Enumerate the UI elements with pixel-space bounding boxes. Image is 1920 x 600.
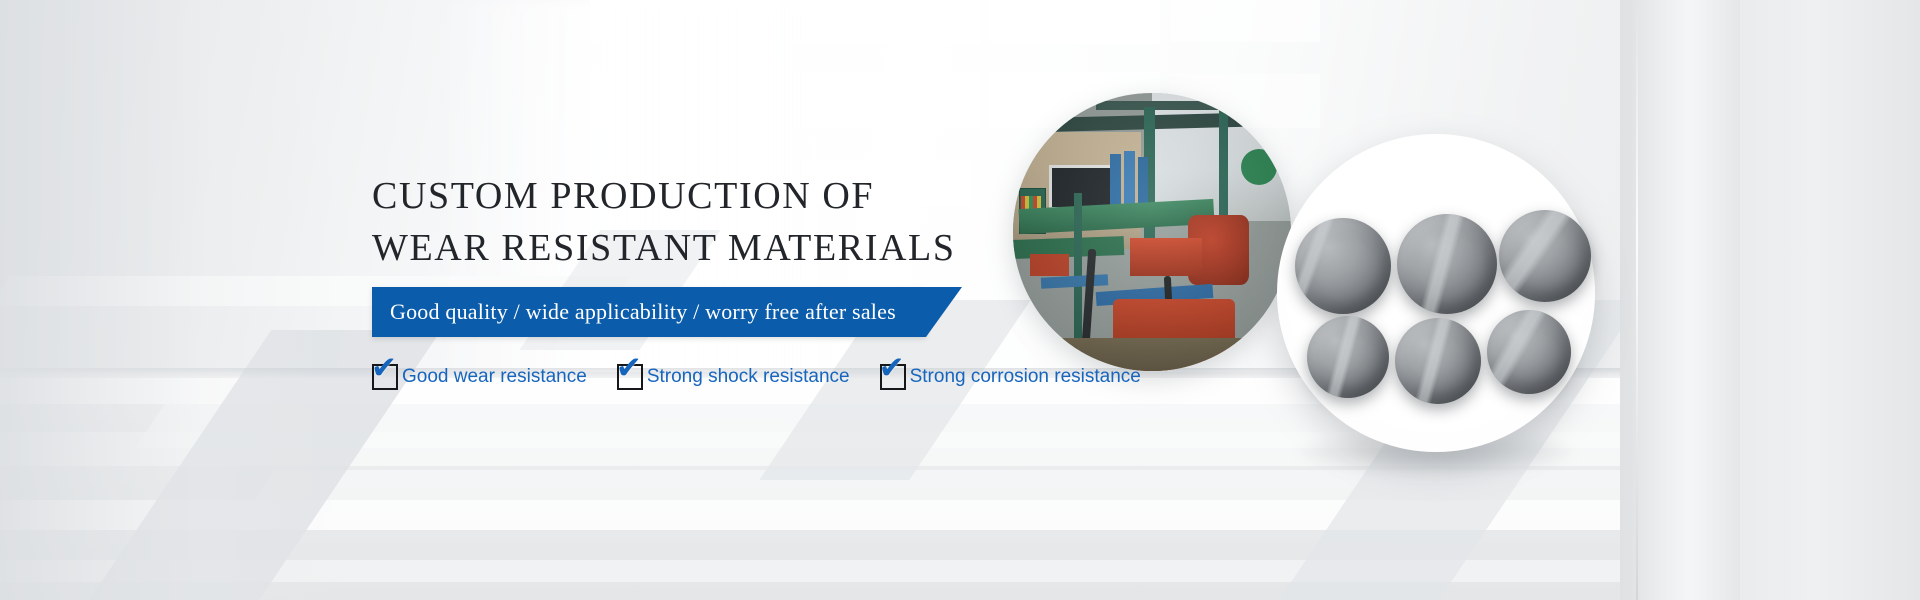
check-mark-icon: ✔ xyxy=(371,353,397,384)
feature-label: Good wear resistance xyxy=(402,366,587,388)
right-wall-fold xyxy=(1630,0,1740,600)
grinding-ball xyxy=(1307,316,1389,398)
ribbon-arrow-tip xyxy=(926,287,962,337)
feature-list: ✔ Good wear resistance ✔ Strong shock re… xyxy=(372,364,1141,390)
check-mark-icon: ✔ xyxy=(616,353,642,384)
checkbox-box: ✔ xyxy=(372,364,398,390)
diagonal-highlight xyxy=(246,470,1754,512)
ball-seam-line xyxy=(1295,218,1391,314)
tagline-text: Good quality / wide applicability / worr… xyxy=(390,299,896,325)
check-mark-icon: ✔ xyxy=(879,353,905,384)
wall-panel xyxy=(990,0,1160,44)
grinding-ball xyxy=(1295,218,1391,314)
grinding-balls-photo xyxy=(1277,134,1595,452)
feature-label: Strong shock resistance xyxy=(647,366,850,388)
tagline-ribbon: Good quality / wide applicability / worr… xyxy=(372,287,926,337)
factory-production-line-photo xyxy=(1013,93,1291,371)
hero-banner: CUSTOM PRODUCTION OF WEAR RESISTANT MATE… xyxy=(0,0,1920,600)
factory-photo-inner xyxy=(1013,93,1291,371)
checkbox-box: ✔ xyxy=(617,364,643,390)
feature-item-corrosion: ✔ Strong corrosion resistance xyxy=(880,364,1141,390)
grinding-ball xyxy=(1487,310,1571,394)
feature-item-shock: ✔ Strong shock resistance xyxy=(617,364,850,390)
headline-line-2: WEAR RESISTANT MATERIALS xyxy=(372,222,956,274)
checkbox-box: ✔ xyxy=(880,364,906,390)
ball-seam-line xyxy=(1397,214,1497,314)
page-title: CUSTOM PRODUCTION OF WEAR RESISTANT MATE… xyxy=(372,170,956,274)
feature-item-wear: ✔ Good wear resistance xyxy=(372,364,587,390)
feature-label: Strong corrosion resistance xyxy=(910,366,1141,388)
wall-panel xyxy=(1170,0,1320,42)
ball-seam-line xyxy=(1307,316,1389,398)
photo-shading xyxy=(1013,93,1291,371)
left-vignette xyxy=(0,0,340,600)
headline-line-1: CUSTOM PRODUCTION OF xyxy=(372,170,956,222)
ball-seam-line xyxy=(1487,310,1571,394)
wall-corner-edge xyxy=(1636,0,1638,600)
grinding-ball xyxy=(1395,318,1481,404)
ball-seam-line xyxy=(1499,210,1591,302)
grinding-ball xyxy=(1499,210,1591,302)
ball-seam-line xyxy=(1395,318,1481,404)
grinding-ball xyxy=(1397,214,1497,314)
